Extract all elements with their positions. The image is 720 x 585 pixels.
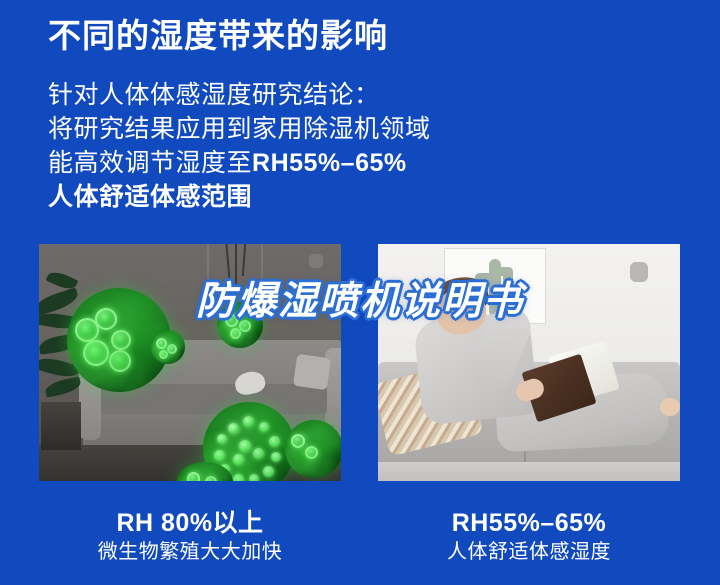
microbe-cell (75, 318, 99, 342)
person-foot (660, 398, 680, 416)
intro-copy-block: 针对人体体感湿度研究结论： 将研究结果应用到家用除湿机领域 能高效调节湿度至RH… (48, 78, 508, 214)
copy-line-1: 针对人体体感湿度研究结论： (48, 78, 508, 112)
copy-line-3: 能高效调节湿度至RH55%–65% (48, 146, 508, 180)
virus-spike (259, 422, 269, 432)
virus-spike (214, 450, 225, 461)
virus-spike (228, 423, 239, 434)
virus-spike (243, 416, 254, 427)
throw-pillow (293, 354, 331, 390)
plant-pot (41, 402, 81, 450)
caption-title: RH55%–65% (378, 508, 680, 538)
microbe-cell (291, 434, 305, 448)
microbe-cell (305, 446, 318, 459)
microbe-cell (109, 350, 131, 372)
virus-spike (217, 434, 227, 444)
microbe-cell (167, 344, 177, 354)
microbe-cell (95, 308, 117, 330)
virus-spike (239, 440, 251, 452)
microbe-cell (205, 476, 217, 481)
microbe-cell (187, 472, 200, 481)
caption-subtitle: 人体舒适体感湿度 (378, 538, 680, 566)
virus-spike (233, 454, 244, 465)
caption-subtitle: 微生物繁殖大大加快 (39, 538, 341, 566)
watermark-text: 防爆湿喷机说明书 (196, 270, 524, 326)
copy-line-3-highlight: RH55%–65% (252, 149, 407, 177)
virus-spike (263, 466, 274, 477)
caption-comfort-humidity: RH55%–65% 人体舒适体感湿度 (378, 508, 680, 566)
humidity-infographic-poster: 不同的湿度带来的影响 针对人体体感湿度研究结论： 将研究结果应用到家用除湿机领域… (0, 0, 720, 585)
microbe-sphere-partial (285, 420, 341, 478)
microbe-cell (111, 330, 131, 350)
caption-title: RH 80%以上 (39, 508, 341, 538)
page-title: 不同的湿度带来的影响 (48, 16, 388, 56)
microbe-cell (230, 328, 241, 339)
copy-line-2: 将研究结果应用到家用除湿机领域 (48, 112, 508, 146)
microbe-sphere-small (151, 330, 185, 364)
virus-spike (269, 436, 280, 447)
copy-line-4: 人体舒适体感范围 (48, 180, 508, 214)
virus-spike (271, 452, 281, 462)
copy-line-3-normal: 能高效调节湿度至 (48, 149, 252, 177)
microbe-cell (156, 338, 167, 349)
microbe-cell (159, 350, 168, 359)
virus-spike (253, 448, 264, 459)
microbe-cell (83, 340, 109, 366)
virus-spike (233, 474, 244, 481)
wall-knob-decor (309, 254, 323, 268)
microbe-sphere-partial (177, 462, 233, 481)
wall-speaker-icon (630, 262, 648, 282)
virus-spike (249, 474, 259, 481)
caption-high-humidity: RH 80%以上 微生物繁殖大大加快 (39, 508, 341, 566)
floor (378, 462, 680, 481)
